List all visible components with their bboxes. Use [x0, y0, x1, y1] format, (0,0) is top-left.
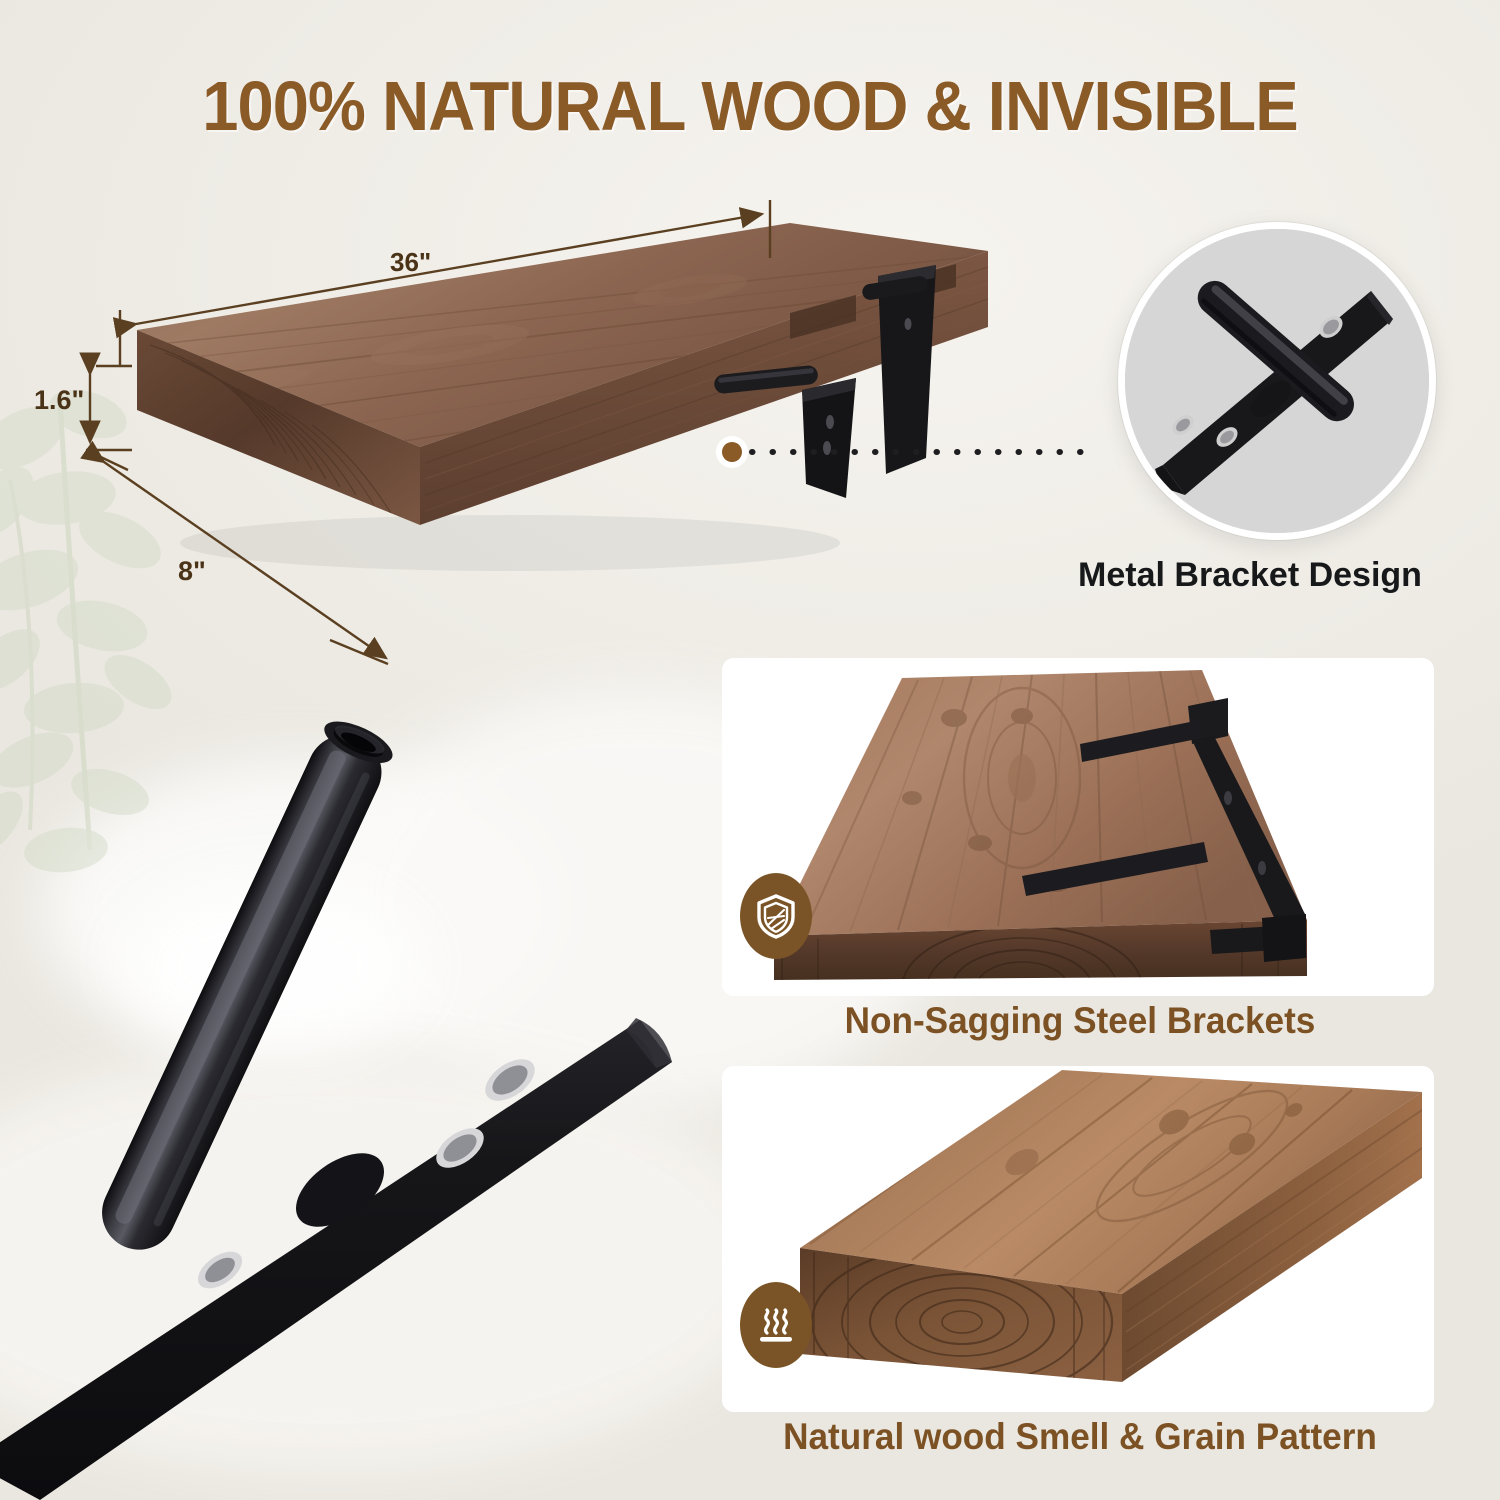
aroma-badge	[740, 1282, 812, 1368]
feature-card-steel-brackets	[722, 658, 1434, 996]
shelf-with-steel-bracket-photo	[722, 658, 1434, 996]
steam-aroma-icon	[754, 1301, 798, 1349]
card-caption-steel-brackets: Non-Sagging Steel Brackets	[719, 1000, 1441, 1042]
wood-grain-end-cut-photo	[722, 1066, 1434, 1412]
shield-badge	[740, 873, 812, 959]
dimension-label-thickness: 1.6"	[34, 385, 84, 416]
page-title: 100% NATURAL WOOD & INVISIBLE	[53, 66, 1448, 146]
metal-bracket-zoom-callout	[1118, 222, 1436, 540]
t-bracket-closeup-photo	[690, 262, 1010, 512]
dimension-label-depth: 8"	[178, 556, 206, 587]
card-caption-wood-grain: Natural wood Smell & Grain Pattern	[719, 1416, 1441, 1458]
feature-card-wood-grain	[722, 1066, 1434, 1412]
product-infographic: 100% NATURAL WOOD & INVISIBLE 36" 1.6" 8…	[0, 0, 1500, 1500]
large-t-bracket-product-photo	[0, 690, 680, 1500]
dimension-label-length: 36"	[390, 247, 431, 278]
bracket-closeup-illustration	[1125, 229, 1429, 533]
callout-label-metal-bracket-design: Metal Bracket Design	[1040, 556, 1460, 595]
shield-icon	[754, 892, 798, 940]
